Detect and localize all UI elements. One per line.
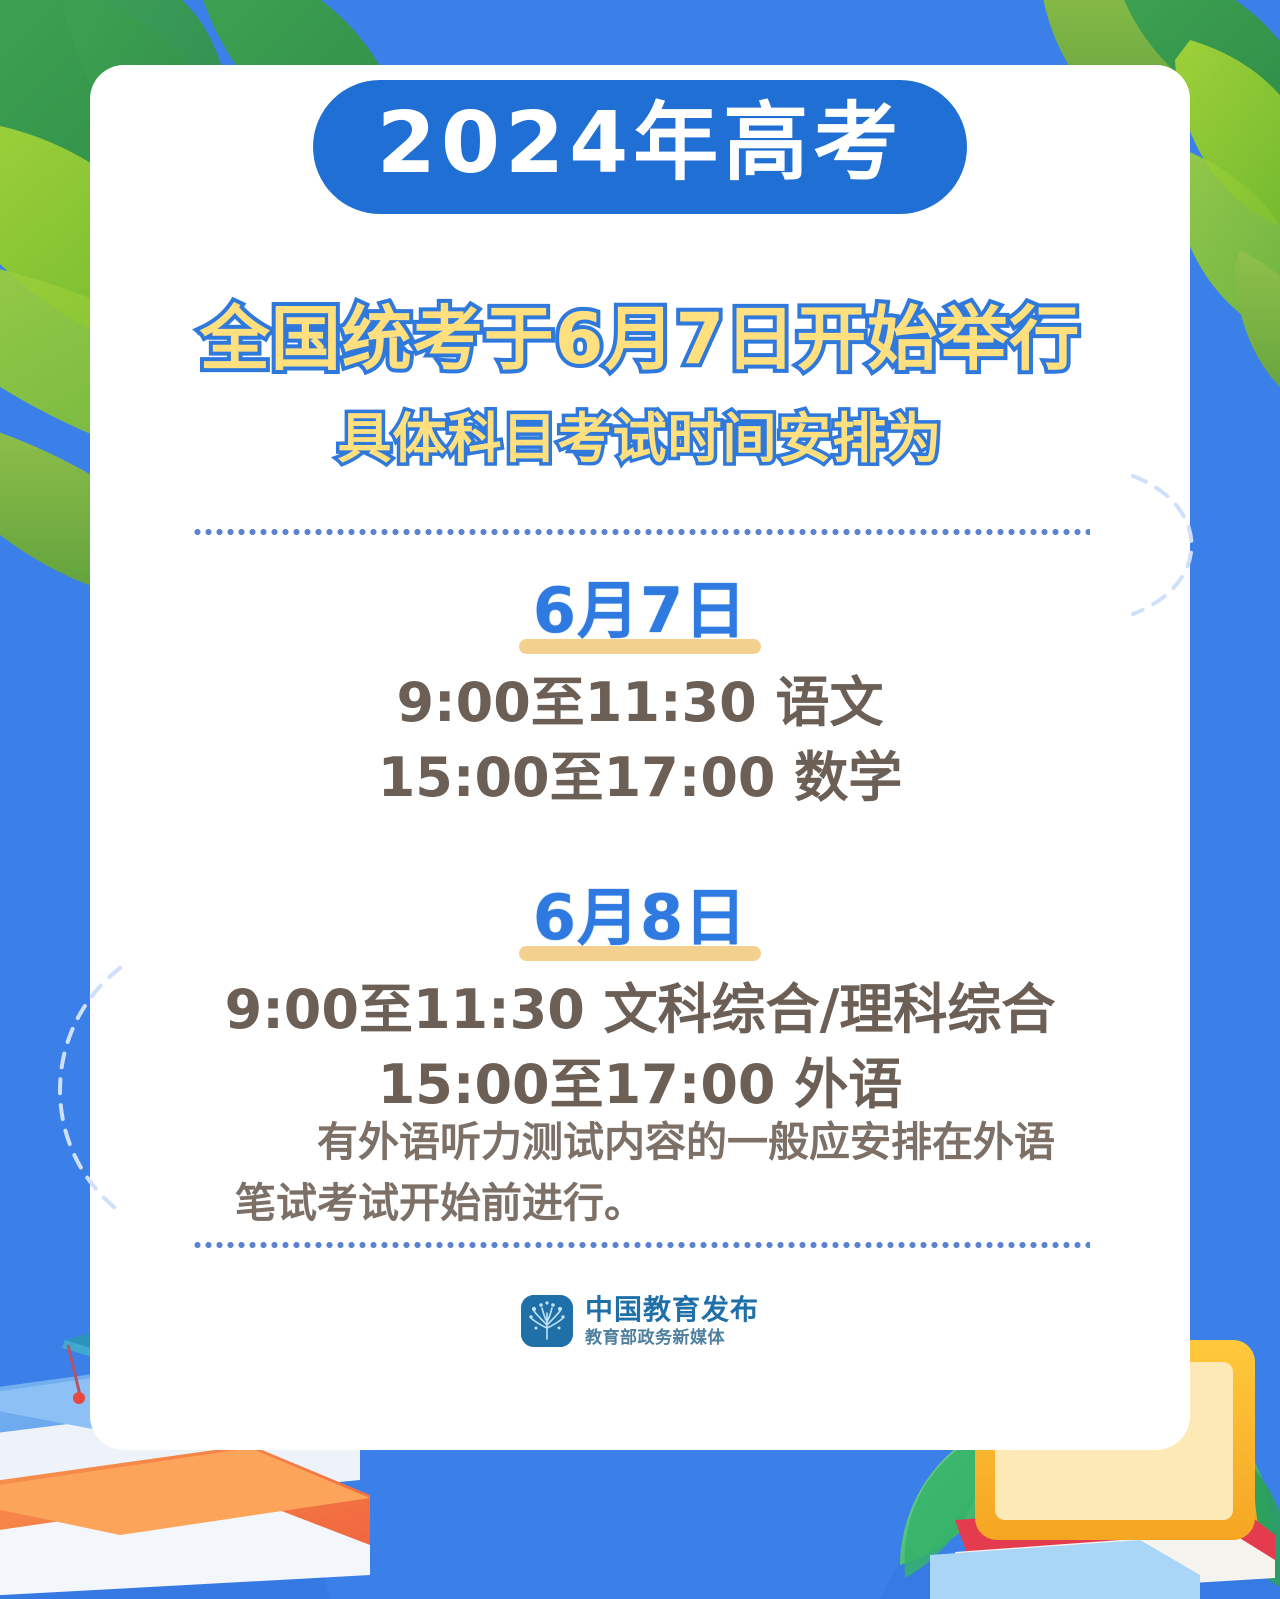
- schedule-day-2: 6月8日 9:00至11:30 文科综合/理科综合 15:00至17:00 外语: [90, 867, 1190, 1122]
- logo-subtitle: 教育部政务新媒体: [585, 1330, 759, 1347]
- dandelion-icon: [521, 1295, 573, 1347]
- schedule-day-1: 6月7日 9:00至11:30 语文 15:00至17:00 数学: [90, 560, 1190, 815]
- day-2-session-1: 9:00至11:30 文科综合/理科综合: [90, 973, 1190, 1048]
- footer-logo: 中国教育发布 教育部政务新媒体: [0, 1295, 1280, 1347]
- poster-headline: 全国统考于6月7日开始举行: [0, 300, 1280, 378]
- poster-subheadline: 具体科目考试时间安排为: [0, 394, 1280, 473]
- day-1-session-1: 9:00至11:30 语文: [90, 666, 1190, 741]
- exam-schedule: 6月7日 9:00至11:30 语文 15:00至17:00 数学 6月8日 9…: [90, 560, 1190, 1122]
- day-2-session-2: 15:00至17:00 外语: [90, 1048, 1190, 1123]
- logo-text-block: 中国教育发布 教育部政务新媒体: [585, 1296, 759, 1347]
- title-pill: 2024年高考: [313, 80, 968, 214]
- logo-name: 中国教育发布: [585, 1296, 759, 1324]
- day-1-date-badge: 6月7日: [519, 560, 761, 656]
- day-1-date-label: 6月7日: [533, 574, 747, 647]
- headline-container: 全国统考于6月7日开始举行 具体科目考试时间安排为: [0, 300, 1280, 473]
- day-2-date-label: 6月8日: [533, 881, 747, 954]
- dotted-divider-bottom: [192, 1240, 1090, 1250]
- day-2-date-badge: 6月8日: [519, 867, 761, 963]
- dotted-divider-top: [192, 527, 1090, 537]
- listening-test-note: 有外语听力测试内容的一般应安排在外语笔试考试开始前进行。: [235, 1112, 1080, 1233]
- day-1-session-2: 15:00至17:00 数学: [90, 741, 1190, 816]
- poster-title: 2024年高考: [377, 94, 904, 194]
- title-pill-container: 2024年高考: [0, 80, 1280, 214]
- schedule-spacer: [90, 815, 1190, 867]
